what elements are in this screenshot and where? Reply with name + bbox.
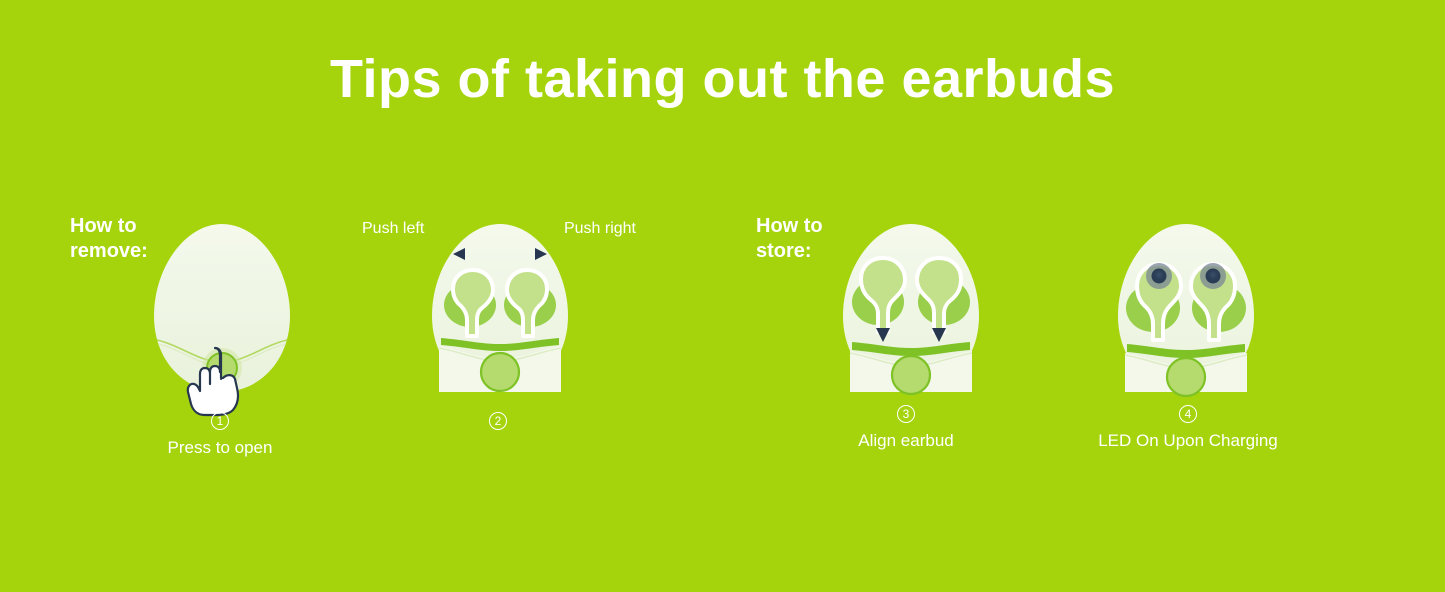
earbud-case-closed <box>147 220 297 400</box>
earbud-case-charging <box>1111 220 1261 400</box>
page-title: Tips of taking out the earbuds <box>0 50 1445 109</box>
step-panel-1: How to remove: <box>70 200 370 500</box>
led-indicator-icon <box>1200 263 1226 289</box>
caption-led-on-upon-charging: LED On Upon Charging <box>1038 431 1338 451</box>
step-panel-2: Push left Push right <box>348 200 648 500</box>
caption-block-3: 3 Align earbud <box>756 405 1056 451</box>
case-align-icon <box>836 220 986 400</box>
step-panel-4: 4 LED On Upon Charging <box>1038 200 1338 500</box>
step-number-badge-3: 3 <box>897 405 915 423</box>
caption-block-2: 2 <box>348 412 648 430</box>
caption-block-4: 4 LED On Upon Charging <box>1038 405 1338 451</box>
step-number-badge-1: 1 <box>211 412 229 430</box>
step-number-badge-4: 4 <box>1179 405 1197 423</box>
label-push-left: Push left <box>362 220 424 238</box>
earbud-case-open-push <box>425 220 575 400</box>
earbud-case-open-align <box>836 220 986 400</box>
case-charging-icon <box>1111 220 1261 400</box>
case-open-icon <box>425 220 575 400</box>
hand-cursor-icon <box>185 344 243 418</box>
led-indicator-icon <box>1146 263 1172 289</box>
caption-align-earbud: Align earbud <box>756 431 1056 451</box>
caption-press-to-open: Press to open <box>70 438 370 458</box>
caption-block-1: 1 Press to open <box>70 412 370 458</box>
section-label-how-to-store: How to store: <box>756 214 823 264</box>
step-panel-3: How to store: <box>756 200 1056 500</box>
step-number-badge-2: 2 <box>489 412 507 430</box>
section-label-how-to-remove: How to remove: <box>70 214 148 264</box>
